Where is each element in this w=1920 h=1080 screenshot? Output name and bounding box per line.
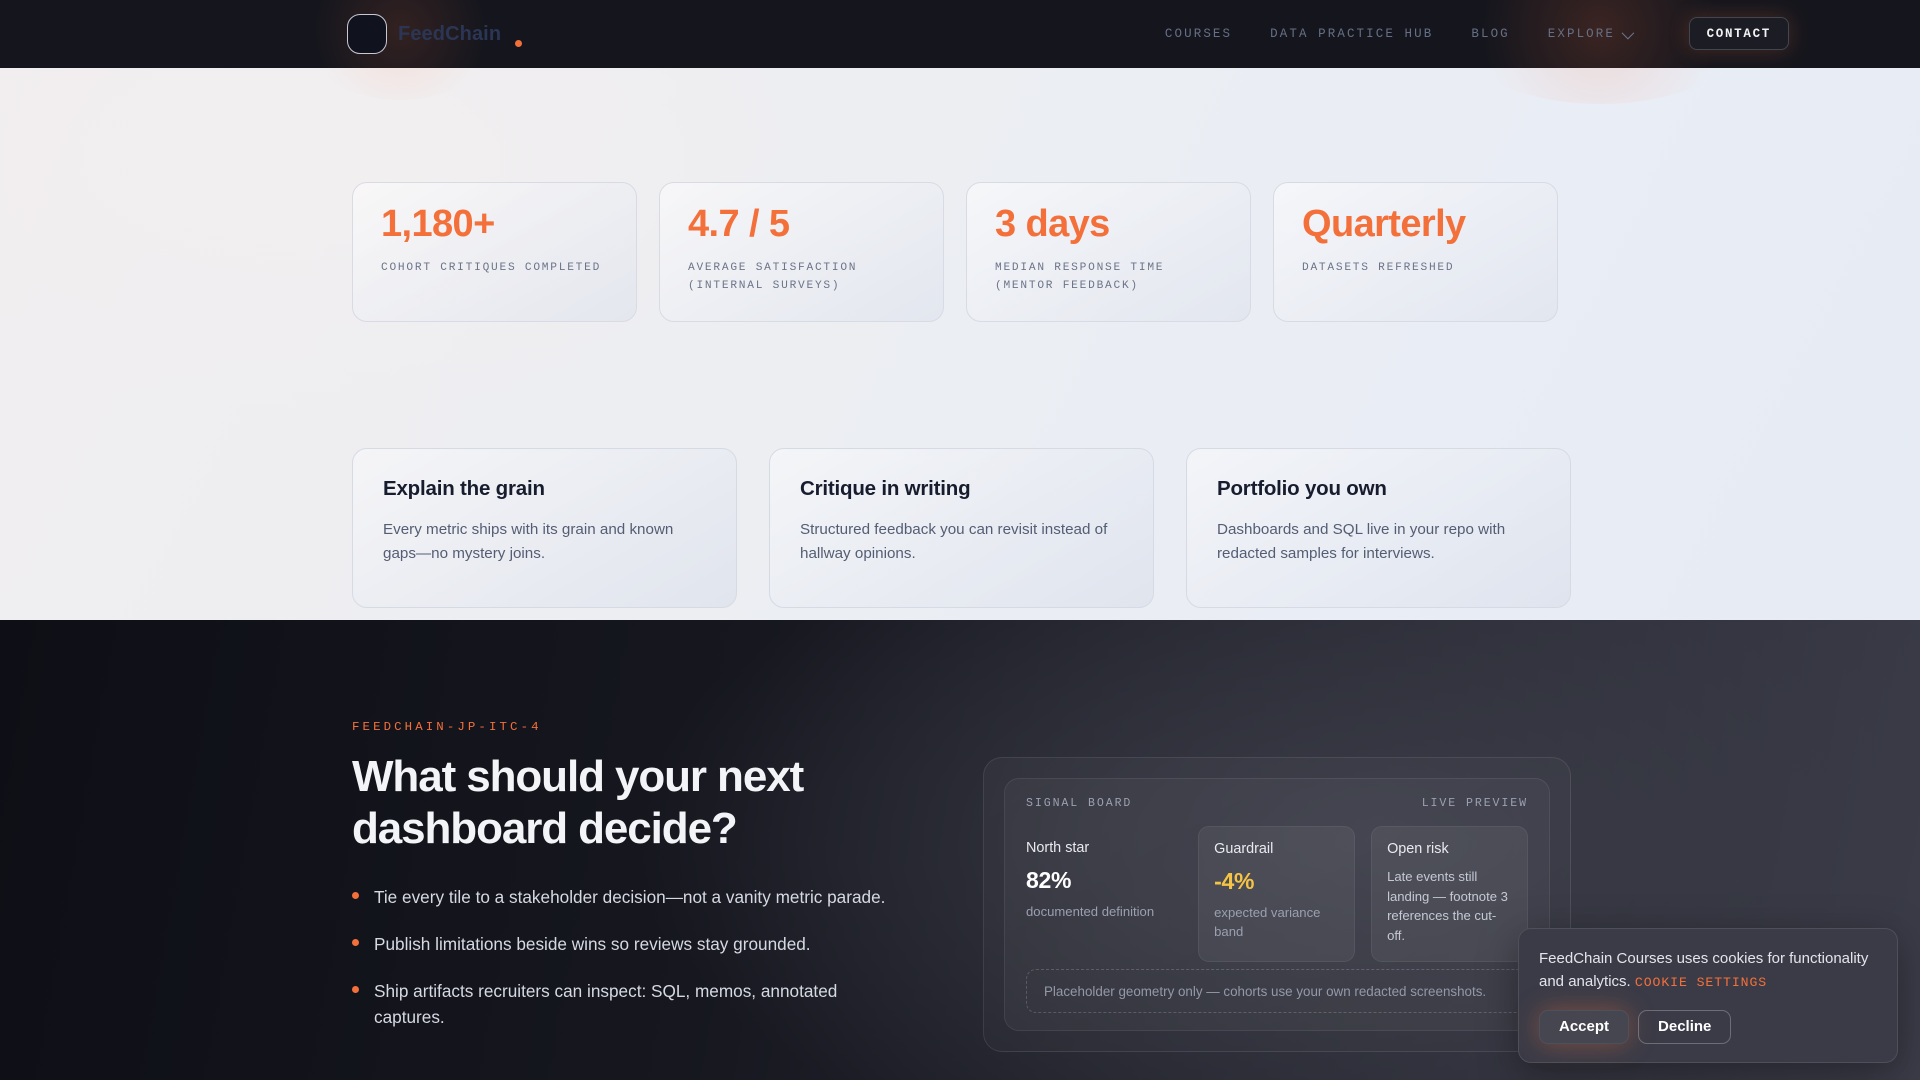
metric-tile-body: Late events still landing — footnote 3 r… [1387,867,1512,946]
page-root: FeedChain COURSES DATA PRACTICE HUB BLOG… [0,0,1920,1080]
feature-body: Dashboards and SQL live in your repo wit… [1217,518,1540,566]
list-item: Publish limitations beside wins so revie… [352,931,897,957]
metric-tile-open-risk: Open risk Late events still landing — fo… [1371,826,1528,962]
metric-tile-value: 82% [1026,867,1167,894]
decline-cookies-button[interactable]: Decline [1638,1010,1731,1044]
stat-label: DATASETS REFRESHED [1302,259,1529,277]
signal-board-note: Placeholder geometry only — cohorts use … [1026,969,1559,1013]
nav-item-courses[interactable]: COURSES [1165,27,1232,41]
signal-board-tiles: North star 82% documented definition Gua… [1026,826,1528,962]
stat-card-median-response-time: 3 days MEDIAN RESPONSE TIME (MENTOR FEED… [966,182,1251,322]
stat-label: MEDIAN RESPONSE TIME (MENTOR FEEDBACK) [995,259,1222,296]
stat-value: Quarterly [1302,205,1529,245]
stat-card-datasets-refreshed: Quarterly DATASETS REFRESHED [1273,182,1558,322]
stat-label: AVERAGE SATISFACTION (INTERNAL SURVEYS) [688,259,915,296]
list-item: Tie every tile to a stakeholder decision… [352,884,897,910]
section-eyebrow: FEEDCHAIN-JP-ITC-4 [352,720,952,734]
bullet-dot-icon [352,986,359,993]
feature-body: Structured feedback you can revisit inst… [800,518,1123,566]
feature-title: Explain the grain [383,477,706,501]
feature-title: Portfolio you own [1217,477,1540,501]
metric-tile-north-star: North star 82% documented definition [1026,826,1182,962]
list-item-text: Ship artifacts recruiters can inspect: S… [374,981,837,1027]
metric-tile-sub: expected variance band [1214,904,1339,942]
chevron-down-icon [1622,26,1635,39]
stat-value: 1,180+ [381,205,608,245]
nav-item-data-practice-hub[interactable]: DATA PRACTICE HUB [1270,27,1433,41]
metric-tile-label: Guardrail [1214,841,1339,857]
features-row: Explain the grain Every metric ships wit… [352,448,1571,608]
nav-item-blog[interactable]: BLOG [1471,27,1509,41]
stats-row: 1,180+ COHORT CRITIQUES COMPLETED 4.7 / … [352,182,1558,322]
cookie-message-wrap: FeedChain Courses uses cookies for funct… [1539,948,1877,994]
accept-cookies-button[interactable]: Accept [1539,1010,1629,1044]
stat-card-cohort-critiques: 1,180+ COHORT CRITIQUES COMPLETED [352,182,637,322]
cookie-consent-banner: FeedChain Courses uses cookies for funct… [1518,928,1898,1063]
metric-tile-guardrail: Guardrail -4% expected variance band [1198,826,1355,962]
brand-name: FeedChain [398,23,501,46]
list-item-text: Publish limitations beside wins so revie… [374,934,811,954]
nav-item-explore[interactable]: EXPLORE [1548,27,1631,41]
signal-board-panel: SIGNAL BOARD LIVE PREVIEW North star 82%… [983,757,1571,1052]
bullet-dot-icon [352,892,359,899]
brand-accent-dot-icon [515,40,522,47]
light-section: 1,180+ COHORT CRITIQUES COMPLETED 4.7 / … [0,68,1920,620]
site-header: FeedChain COURSES DATA PRACTICE HUB BLOG… [0,0,1920,68]
contact-button[interactable]: CONTACT [1689,17,1789,50]
signal-board-header: SIGNAL BOARD LIVE PREVIEW [1026,797,1528,810]
feature-body: Every metric ships with its grain and kn… [383,518,706,566]
feature-title: Critique in writing [800,477,1123,501]
feature-card-explain-the-grain: Explain the grain Every metric ships wit… [352,448,737,608]
stat-label: COHORT CRITIQUES COMPLETED [381,259,608,277]
nav-item-explore-label: EXPLORE [1548,27,1615,41]
list-item-text: Tie every tile to a stakeholder decision… [374,887,885,907]
stat-value: 3 days [995,205,1222,245]
bullet-dot-icon [352,939,359,946]
stat-card-average-satisfaction: 4.7 / 5 AVERAGE SATISFACTION (INTERNAL S… [659,182,944,322]
stat-value: 4.7 / 5 [688,205,915,245]
metric-tile-sub: documented definition [1026,903,1167,922]
main-nav: COURSES DATA PRACTICE HUB BLOG EXPLORE [1165,0,1631,68]
brand-logo[interactable]: FeedChain [347,14,522,54]
metric-tile-label: Open risk [1387,841,1512,857]
decision-bullet-list: Tie every tile to a stakeholder decision… [352,884,952,1031]
metric-tile-label: North star [1026,840,1167,856]
cookie-actions: Accept Decline [1539,1010,1877,1044]
feature-card-portfolio-you-own: Portfolio you own Dashboards and SQL liv… [1186,448,1571,608]
section-heading: What should your next dashboard decide? [352,751,952,855]
metric-tile-value: -4% [1214,868,1339,895]
cookie-settings-link[interactable]: COOKIE SETTINGS [1635,975,1767,990]
list-item: Ship artifacts recruiters can inspect: S… [352,978,897,1030]
decision-copy: FEEDCHAIN-JP-ITC-4 What should your next… [352,720,952,1030]
signal-board-title: SIGNAL BOARD [1026,797,1132,810]
feature-card-critique-in-writing: Critique in writing Structured feedback … [769,448,1154,608]
signal-board-status: LIVE PREVIEW [1422,797,1528,810]
brand-mark-icon [347,14,387,54]
signal-board-inner: SIGNAL BOARD LIVE PREVIEW North star 82%… [1004,778,1550,1031]
